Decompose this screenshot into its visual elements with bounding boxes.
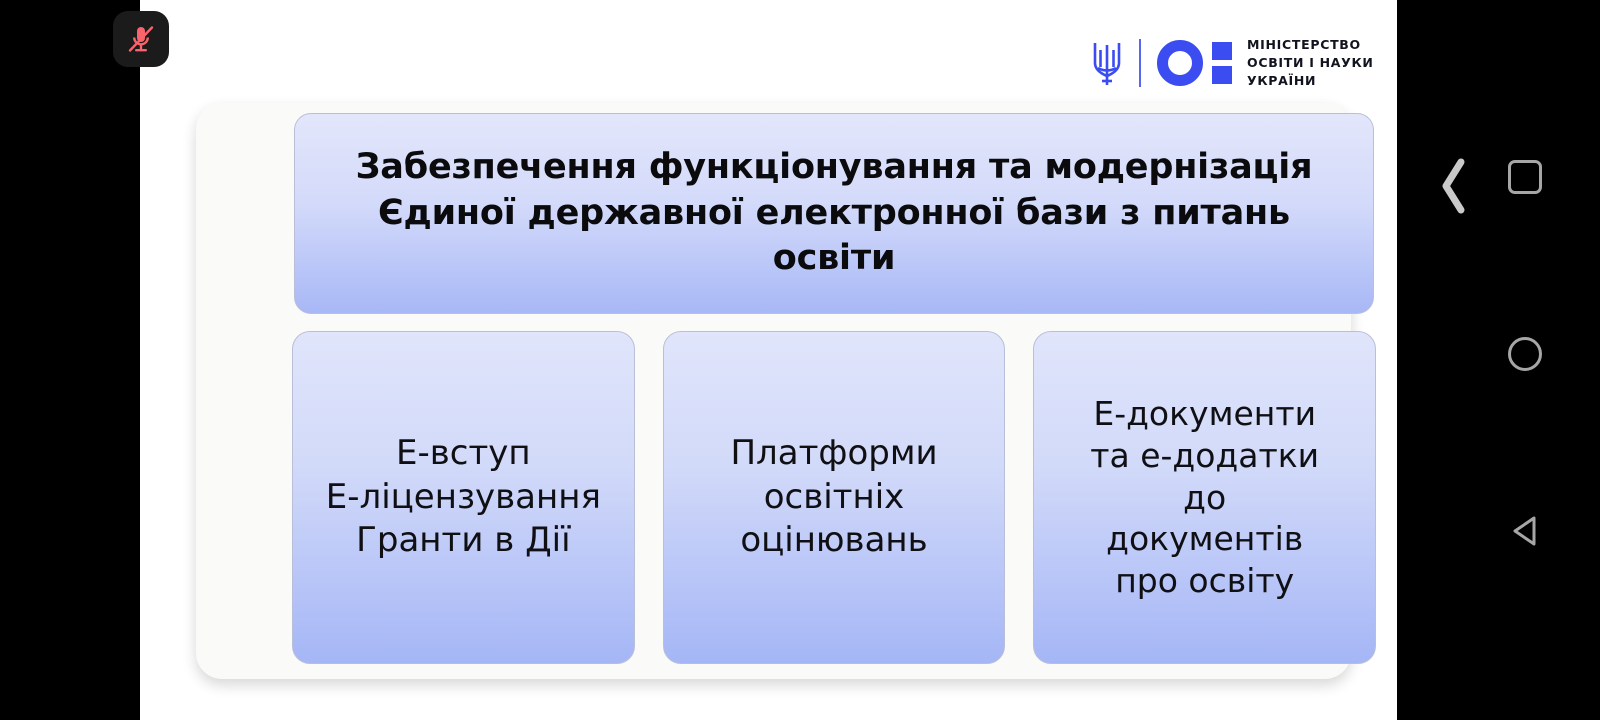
- presentation-stage: МІНІСТЕРСТВО ОСВІТИ І НАУКИ УКРАЇНИ Забе…: [140, 0, 1397, 720]
- microphone-muted-icon: [124, 22, 158, 56]
- info-card-text: Е-вступ Е-ліцензування Гранти в Дії: [326, 432, 601, 564]
- info-card-e-vstup[interactable]: Е-вступ Е-ліцензування Гранти в Дії: [292, 331, 635, 664]
- ministry-line-1: МІНІСТЕРСТВО: [1247, 37, 1374, 53]
- mon-ring-squares-icon: [1157, 40, 1232, 86]
- logo-ring: [1157, 40, 1203, 86]
- android-nav-bar: [1397, 0, 1600, 720]
- info-card-text: Е-документи та е-додатки до документів п…: [1090, 393, 1319, 603]
- info-card-e-documents[interactable]: Е-документи та е-додатки до документів п…: [1033, 331, 1376, 664]
- recents-square-icon[interactable]: [1500, 152, 1550, 202]
- microphone-muted-button[interactable]: [113, 11, 169, 67]
- info-card-text: Платформи освітніх оцінювань: [730, 432, 937, 564]
- slide-panel: Забезпечення функціонування та модерніза…: [196, 103, 1351, 679]
- ministry-name: МІНІСТЕРСТВО ОСВІТИ І НАУКИ УКРАЇНИ: [1247, 37, 1374, 89]
- logo-squares: [1212, 42, 1232, 84]
- ministry-line-3: УКРАЇНИ: [1247, 73, 1374, 89]
- logo-square-bottom: [1212, 66, 1232, 84]
- logo-square-top: [1212, 42, 1232, 60]
- ukraine-trident-icon: [1085, 35, 1129, 91]
- home-circle-glyph: [1508, 337, 1542, 371]
- screen-root: МІНІСТЕРСТВО ОСВІТИ І НАУКИ УКРАЇНИ Забе…: [0, 0, 1600, 720]
- ministry-logo: МІНІСТЕРСТВО ОСВІТИ І НАУКИ УКРАЇНИ: [1085, 32, 1374, 94]
- slide-cards-row: Е-вступ Е-ліцензування Гранти в Дії Плат…: [292, 331, 1376, 664]
- info-card-platforms[interactable]: Платформи освітніх оцінювань: [663, 331, 1006, 664]
- back-triangle-icon[interactable]: [1500, 505, 1552, 557]
- slide-title: Забезпечення функціонування та модерніза…: [319, 145, 1349, 282]
- slide-title-card: Забезпечення функціонування та модерніза…: [294, 113, 1374, 314]
- collapse-chevron-icon[interactable]: [1430, 155, 1478, 217]
- ministry-line-2: ОСВІТИ І НАУКИ: [1247, 55, 1374, 71]
- logo-divider: [1139, 39, 1141, 87]
- home-circle-icon[interactable]: [1500, 329, 1550, 379]
- recents-square-glyph: [1508, 160, 1542, 194]
